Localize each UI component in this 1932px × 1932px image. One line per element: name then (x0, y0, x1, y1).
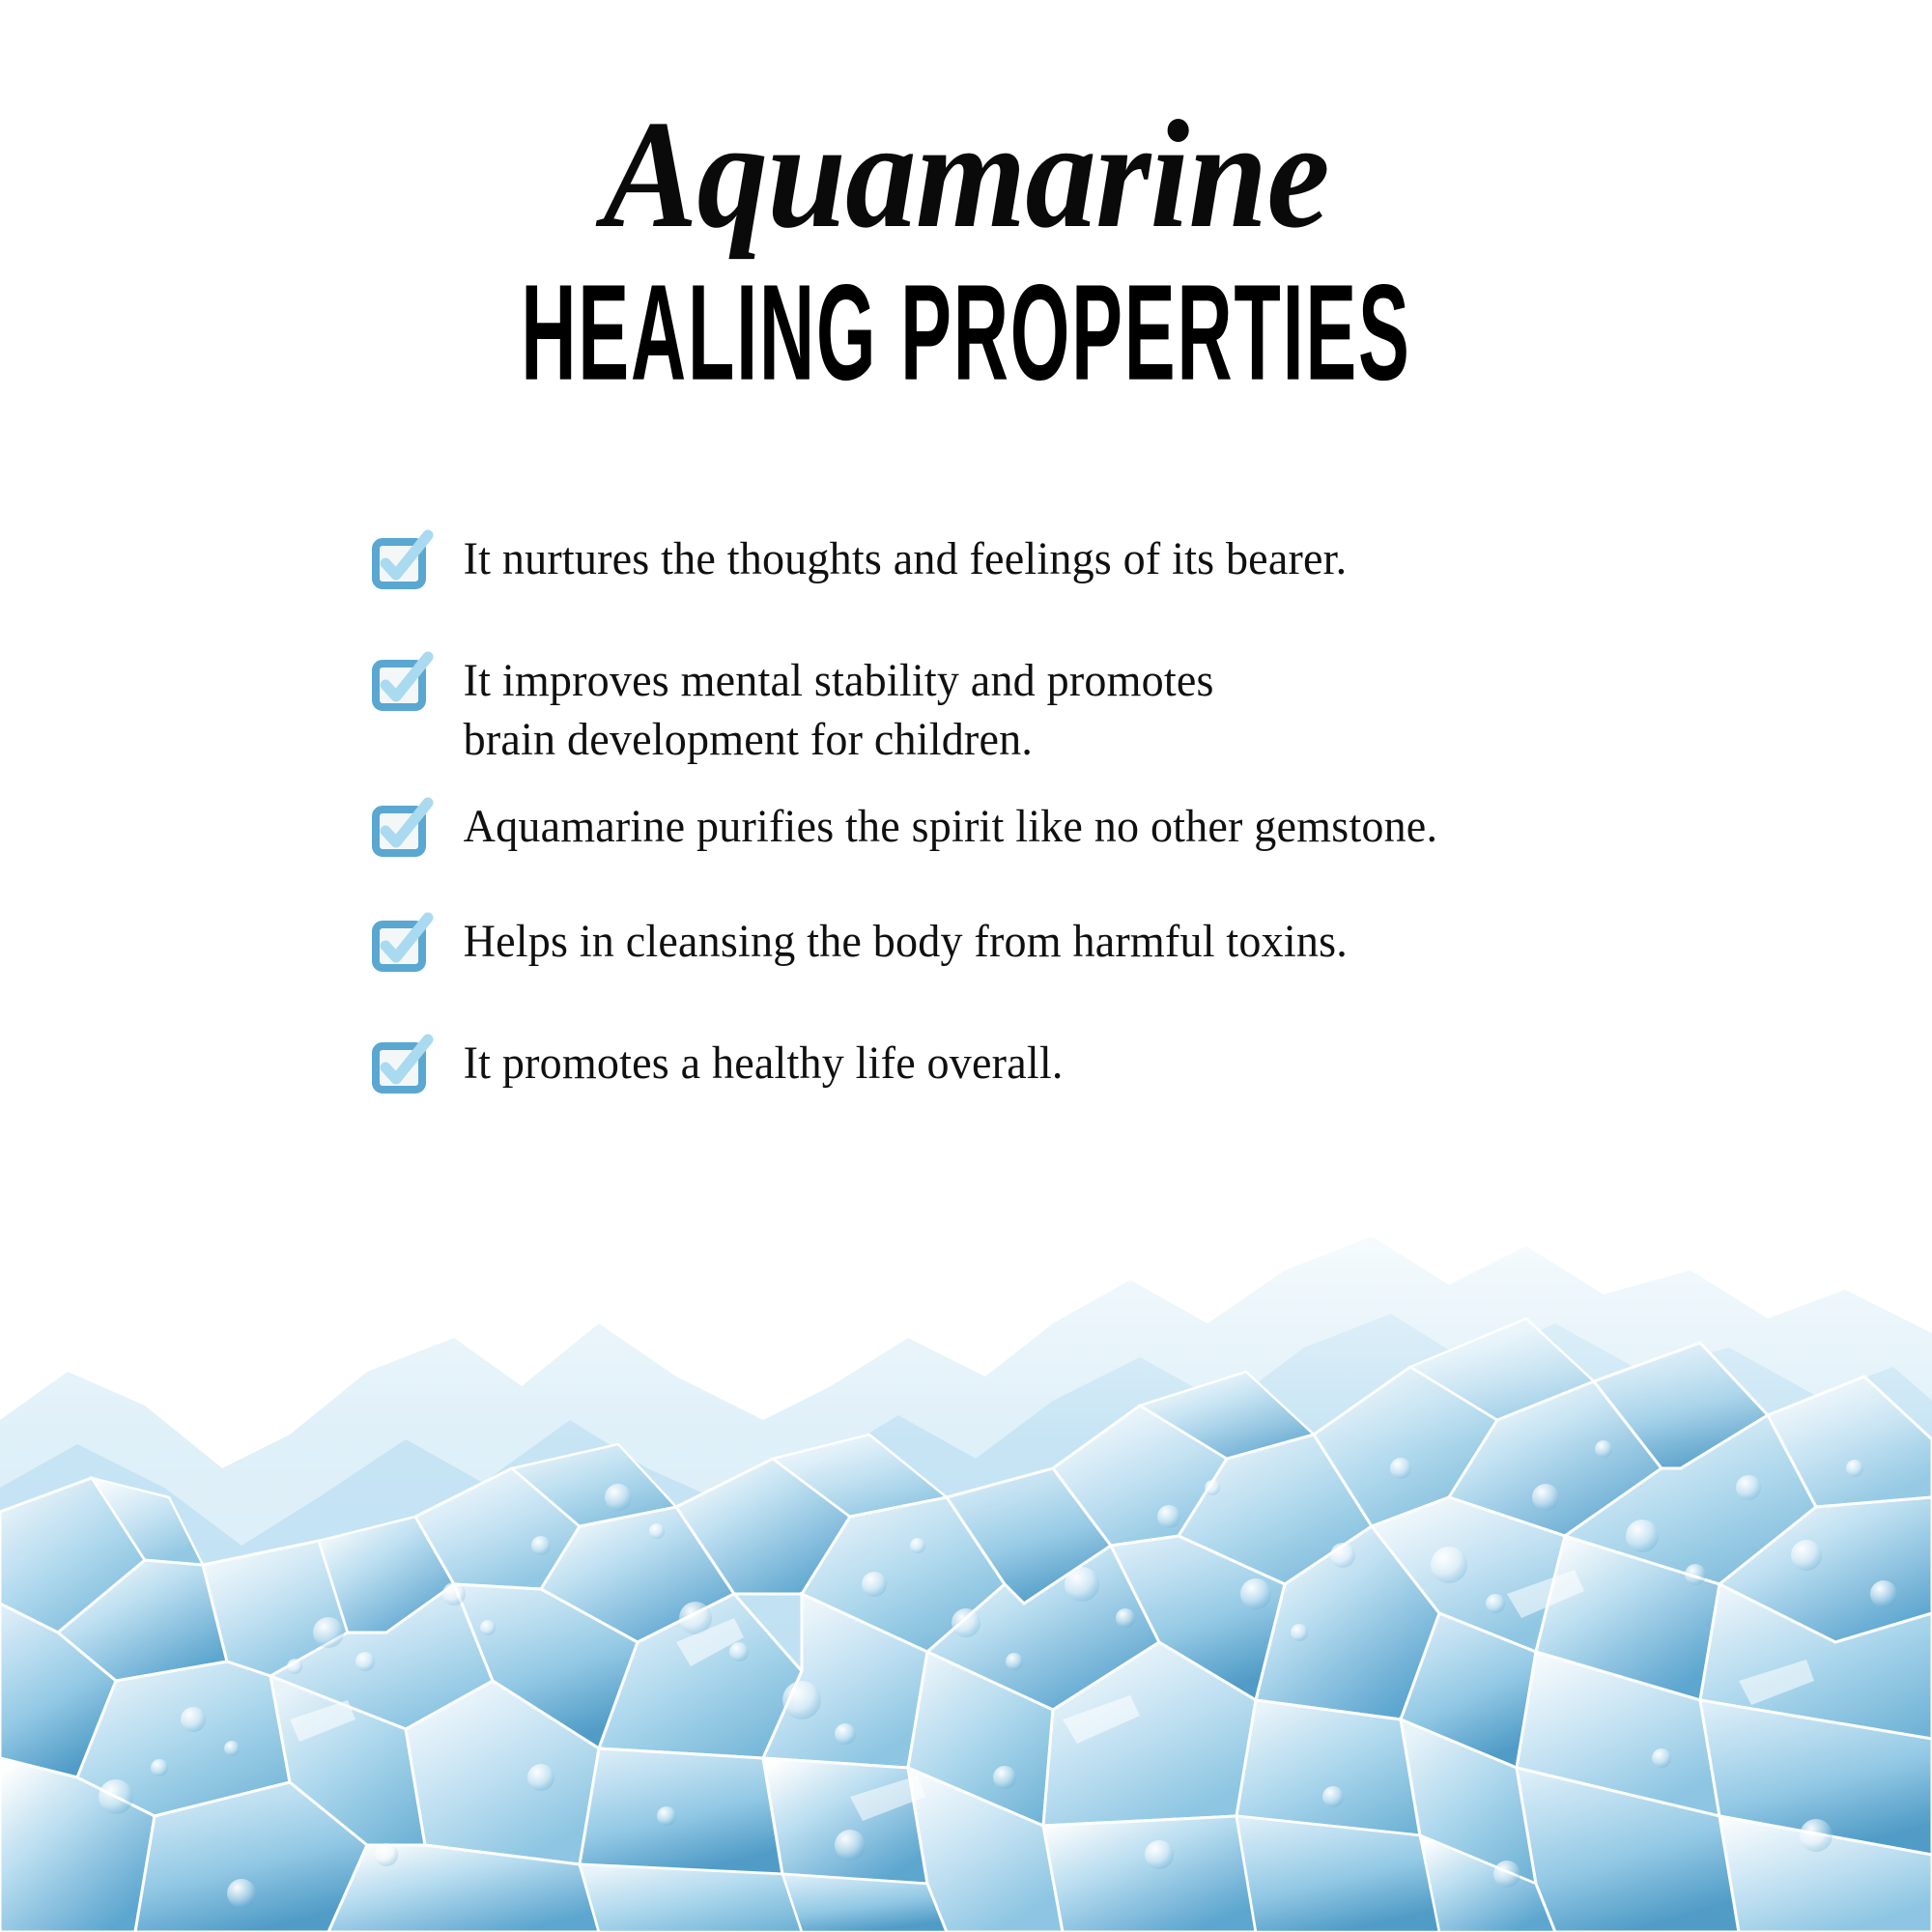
page-title: Aquamarine (77, 0, 1855, 251)
checkbox-checked-icon (372, 529, 432, 591)
poster-header: Aquamarine HEALING PROPERTIES (0, 0, 1932, 389)
list-item-label: Aquamarine purifies the spirit like no o… (432, 797, 1747, 856)
list-item-label: It nurtures the thoughts and feelings of… (432, 529, 1747, 588)
checkbox-checked-icon (372, 912, 432, 974)
checkbox-checked-icon (372, 1034, 432, 1095)
checkbox-checked-icon (372, 797, 432, 859)
page-subtitle: HEALING PROPERTIES (386, 251, 1546, 399)
list-item: Aquamarine purifies the spirit like no o… (372, 797, 1802, 859)
list-item: It promotes a healthy life overall. (372, 1034, 1802, 1095)
list-item-label: Helps in cleansing the body from harmful… (432, 912, 1747, 971)
list-item: It improves mental stability and promote… (372, 651, 1802, 770)
poster-canvas: Aquamarine HEALING PROPERTIES It nurture… (0, 0, 1932, 1932)
list-item-label: It improves mental stability and promote… (432, 651, 1747, 770)
ice-cubes-photo (0, 1179, 1932, 1932)
healing-properties-list: It nurtures the thoughts and feelings of… (372, 529, 1802, 1095)
list-item-label: It promotes a healthy life overall. (432, 1034, 1747, 1093)
list-item: Helps in cleansing the body from harmful… (372, 912, 1802, 974)
checkbox-checked-icon (372, 651, 432, 713)
list-item: It nurtures the thoughts and feelings of… (372, 529, 1802, 591)
